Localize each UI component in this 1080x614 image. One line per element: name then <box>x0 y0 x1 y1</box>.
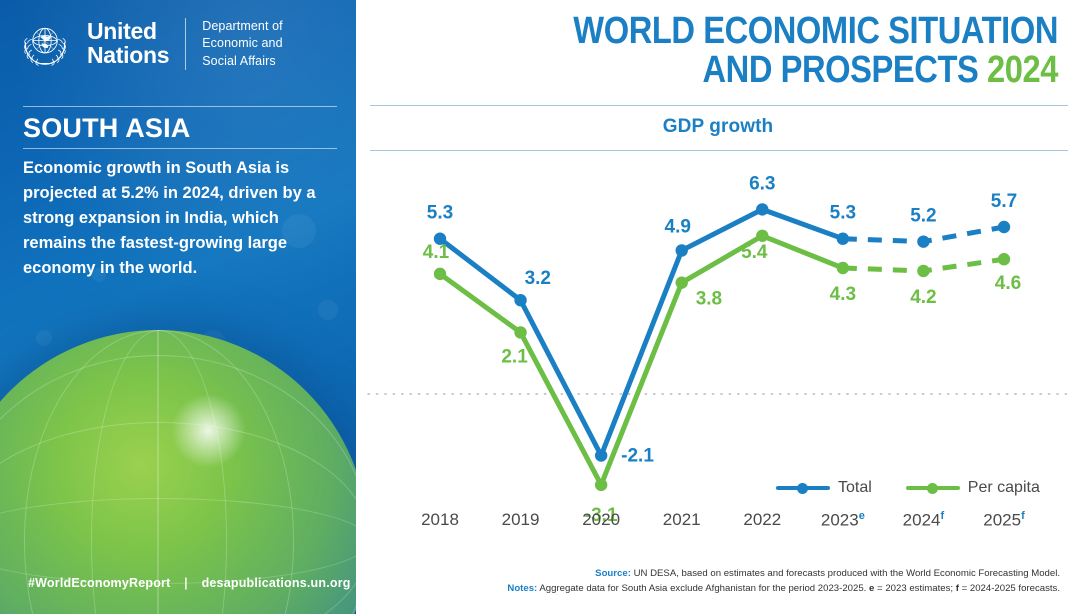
dept-line3: Social Affairs <box>202 53 283 70</box>
svg-text:2.1: 2.1 <box>501 346 528 367</box>
svg-text:6.3: 6.3 <box>749 173 775 194</box>
x-tick-superscript: e <box>859 510 865 522</box>
legend-item-total[interactable]: Total <box>776 479 872 497</box>
svg-text:5.3: 5.3 <box>427 203 453 224</box>
svg-text:-2.1: -2.1 <box>621 446 654 467</box>
x-tick-superscript: f <box>1021 510 1025 522</box>
main-panel: WORLD ECONOMIC SITUATION AND PROSPECTS 2… <box>356 0 1080 614</box>
legend-label-per-capita: Per capita <box>968 479 1040 497</box>
un-logo: United Nations Department of Economic an… <box>17 16 283 72</box>
logo-divider <box>185 18 186 70</box>
chart-x-axis: 201820192020202120222023e2024f2025f <box>356 510 1080 540</box>
sidebar-footer: #WorldEconomyReport | desapublications.u… <box>28 576 351 590</box>
dept-line2: Economic and <box>202 35 283 52</box>
svg-text:4.2: 4.2 <box>910 287 936 308</box>
x-tick-2025: 2025f <box>983 510 1025 531</box>
x-tick-2024: 2024f <box>903 510 945 531</box>
legend-label-total: Total <box>838 479 872 497</box>
footer-separator: | <box>174 576 198 590</box>
chart-footnotes: Source: UN DESA, based on estimates and … <box>500 567 1060 597</box>
source-text: UN DESA, based on estimates and forecast… <box>634 568 1060 579</box>
svg-text:4.6: 4.6 <box>995 273 1021 294</box>
svg-text:4.3: 4.3 <box>830 284 856 305</box>
title-line-1: WORLD ECONOMIC SITUATION <box>508 12 1058 51</box>
sidebar-background <box>0 0 356 614</box>
svg-text:5.4: 5.4 <box>741 242 768 263</box>
notes-text-c: = 2024-2025 forecasts. <box>962 583 1060 594</box>
website-link[interactable]: desapublications.un.org <box>202 576 351 590</box>
svg-text:3.8: 3.8 <box>696 289 722 310</box>
notes-sup-e: e <box>869 583 874 594</box>
globe-icon <box>0 330 356 614</box>
chart-title: GDP growth <box>356 116 1080 138</box>
notes-label: Notes: <box>507 583 537 594</box>
svg-text:5.7: 5.7 <box>991 191 1017 212</box>
x-tick-2023: 2023e <box>821 510 865 531</box>
legend-swatch-total <box>776 481 830 495</box>
sidebar: United Nations Department of Economic an… <box>0 0 356 614</box>
hashtag-label: #WorldEconomyReport <box>28 576 170 590</box>
region-title: SOUTH ASIA <box>23 113 191 144</box>
svg-text:3.2: 3.2 <box>525 268 551 289</box>
bokeh-dot <box>36 330 52 346</box>
un-word-line2: Nations <box>87 44 169 68</box>
region-rule-bottom <box>23 148 337 149</box>
title-year: 2024 <box>987 49 1058 91</box>
legend-item-per-capita[interactable]: Per capita <box>906 479 1040 497</box>
source-line: Source: UN DESA, based on estimates and … <box>500 567 1060 582</box>
source-label: Source: <box>595 568 631 579</box>
x-tick-2021: 2021 <box>663 510 701 530</box>
un-emblem-icon <box>17 16 73 72</box>
chart-legend: Total Per capita <box>776 479 1040 497</box>
x-tick-2018: 2018 <box>421 510 459 530</box>
x-tick-superscript: f <box>941 510 945 522</box>
x-tick-2022: 2022 <box>743 510 781 530</box>
un-department: Department of Economic and Social Affair… <box>202 18 283 70</box>
svg-text:5.3: 5.3 <box>830 203 856 224</box>
region-summary-text: Economic growth in South Asia is project… <box>23 156 335 281</box>
un-wordmark: United Nations <box>87 20 169 68</box>
svg-text:4.9: 4.9 <box>665 216 691 237</box>
notes-line: Notes: Aggregate data for South Asia exc… <box>500 582 1060 597</box>
un-word-line1: United <box>87 20 169 44</box>
notes-text-b: = 2023 estimates; <box>877 583 953 594</box>
title-line-2: AND PROSPECTS 2024 <box>508 51 1058 90</box>
notes-text-a: Aggregate data for South Asia exclude Af… <box>539 583 866 594</box>
x-tick-2020: 2020 <box>582 510 620 530</box>
region-rule-top <box>23 106 337 107</box>
svg-text:4.1: 4.1 <box>423 242 450 263</box>
page-title: WORLD ECONOMIC SITUATION AND PROSPECTS 2… <box>508 12 1058 90</box>
bokeh-dot <box>318 300 338 320</box>
legend-swatch-per-capita <box>906 481 960 495</box>
notes-sup-f: f <box>956 583 959 594</box>
dept-line1: Department of <box>202 18 283 35</box>
svg-text:5.2: 5.2 <box>910 206 936 227</box>
subtitle-rule-top <box>370 105 1068 106</box>
title-line-2-text: AND PROSPECTS <box>702 49 978 91</box>
infographic-page: United Nations Department of Economic an… <box>0 0 1080 614</box>
x-tick-2019: 2019 <box>502 510 540 530</box>
